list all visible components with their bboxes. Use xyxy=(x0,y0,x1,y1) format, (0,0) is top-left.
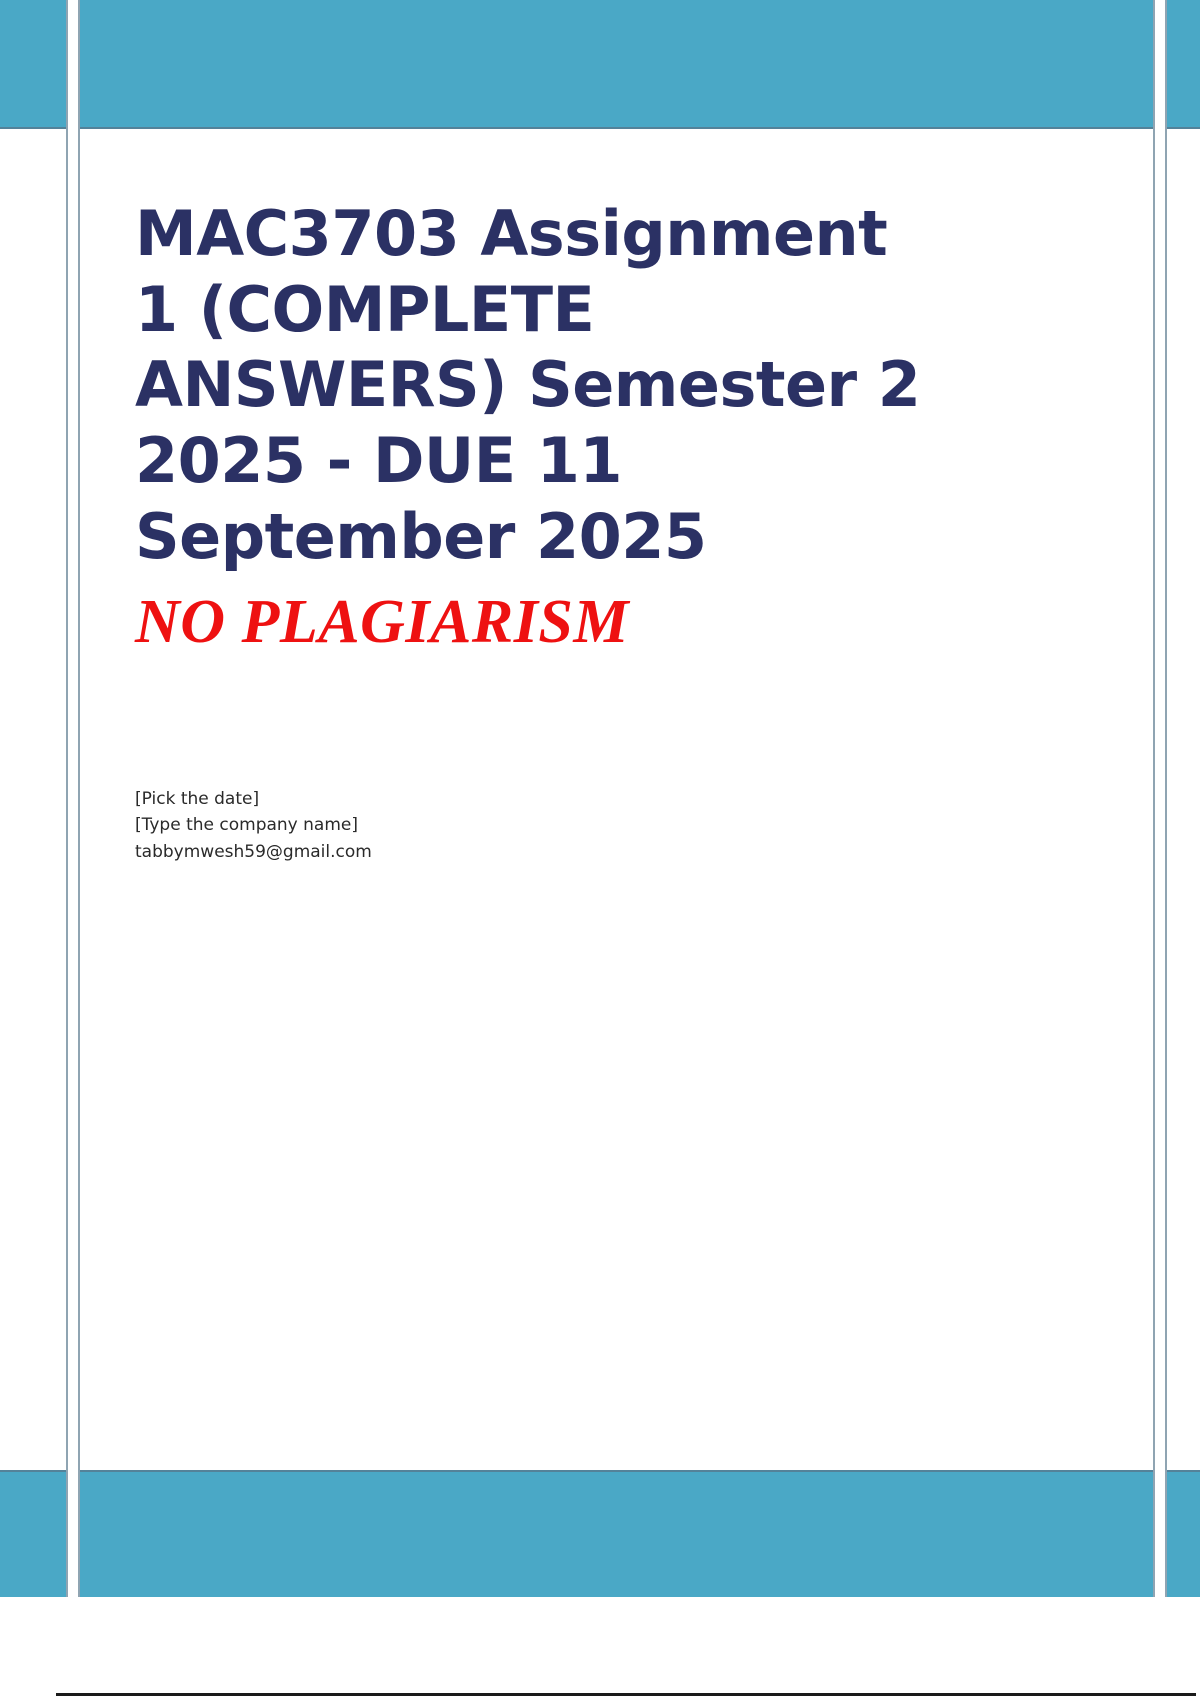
cover-text-block: MAC3703 Assignment 1 (COMPLETE ANSWERS) … xyxy=(135,196,1015,656)
header-band-left-margin xyxy=(0,0,67,129)
gutter-right xyxy=(1155,0,1165,1597)
page-title: MAC3703 Assignment 1 (COMPLETE ANSWERS) … xyxy=(135,196,1015,574)
footer-band-left-margin xyxy=(0,1470,67,1597)
frame-rule-outer-right xyxy=(1165,0,1167,1597)
gutter-left xyxy=(68,0,78,1597)
footer-band-main xyxy=(78,1470,1154,1597)
header-band-right-margin xyxy=(1165,0,1200,129)
contact-email: tabbymwesh59@gmail.com xyxy=(135,839,735,865)
bottom-divider-rule xyxy=(56,1693,1196,1696)
no-plagiarism-subtitle: NO PLAGIARISM xyxy=(135,588,1015,656)
document-page: MAC3703 Assignment 1 (COMPLETE ANSWERS) … xyxy=(0,0,1200,1700)
date-placeholder-field[interactable]: [Pick the date] xyxy=(135,786,735,812)
frame-rule-inner-left xyxy=(78,0,80,1597)
company-name-placeholder-field[interactable]: [Type the company name] xyxy=(135,812,735,838)
header-band-main xyxy=(78,0,1154,129)
footer-band-right-margin xyxy=(1165,1470,1200,1597)
cover-metadata-block: [Pick the date] [Type the company name] … xyxy=(135,786,735,865)
